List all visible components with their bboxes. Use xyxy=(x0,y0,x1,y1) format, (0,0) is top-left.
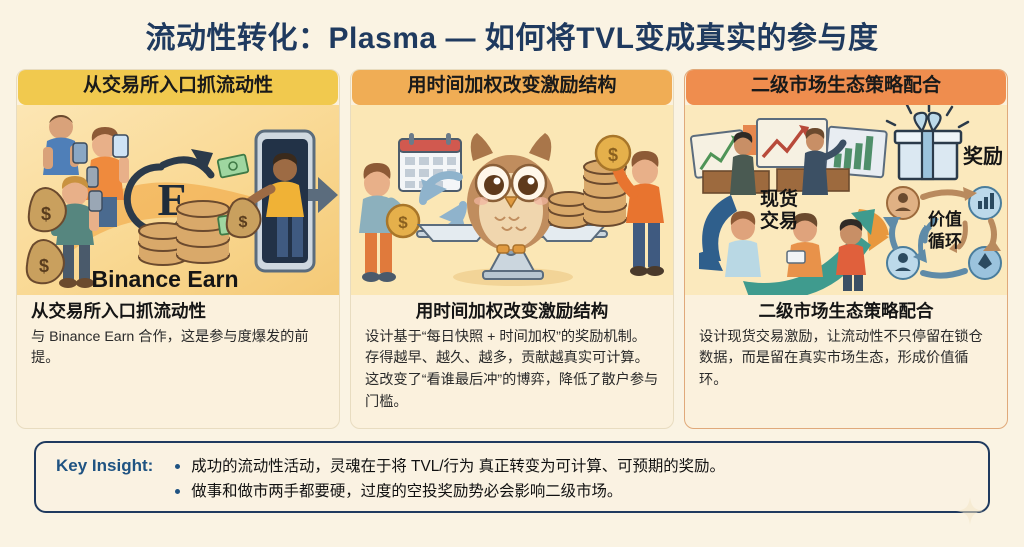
illustration-svg-1: $ $ E xyxy=(17,105,339,295)
key-insight-bullet-1-text: 成功的流动性活动，灵魂在于将 TVL/行为 真正转变为可计算、可预期的奖励。 xyxy=(191,458,725,475)
svg-text:$: $ xyxy=(608,145,618,165)
column-text-2: 用时间加权改变激励结构 设计基于“每日快照 + 时间加权”的奖励机制。存得越早、… xyxy=(351,295,673,428)
illustration-svg-2: $ xyxy=(351,105,673,295)
page-title: 流动性转化：Plasma — 如何将TVL变成真实的参与度 xyxy=(0,0,1024,69)
spot-trading-label-line1: 现货 xyxy=(760,187,798,210)
exchange-onramp-illustration: $ $ E xyxy=(17,105,339,295)
key-insight-list: 成功的流动性活动，灵魂在于将 TVL/行为 真正转变为可计算、可预期的奖励。 做… xyxy=(175,455,725,505)
key-insight-box: Key Insight: 成功的流动性活动，灵魂在于将 TVL/行为 真正转变为… xyxy=(34,441,990,513)
illustration-svg-3: 现货 交易 奖励 xyxy=(685,105,1007,295)
column-body-1: 与 Binance Earn 合作，这是参与度爆发的前提。 xyxy=(31,327,325,370)
spot-trading-label-line2: 交易 xyxy=(760,209,798,232)
column-header-3: 二级市场生态策略配合 xyxy=(686,69,1006,105)
bullet-icon xyxy=(175,464,180,469)
coin-icon-right: $ xyxy=(596,136,630,170)
column-header-2: 用时间加权改变激励结构 xyxy=(352,69,672,105)
value-cycle-label-line1: 价值 xyxy=(928,209,962,229)
column-exchange-onramp: 从交易所入口抓流动性 xyxy=(16,69,340,429)
column-body-2: 设计基于“每日快照 + 时间加权”的奖励机制。存得越早、越久、越多，贡献越真实可… xyxy=(365,327,659,413)
column-subtitle-1: 从交易所入口抓流动性 xyxy=(31,301,325,323)
secondary-market-cycle-illustration: 现货 交易 奖励 xyxy=(685,105,1007,295)
column-secondary-market: 二级市场生态策略配合 xyxy=(684,69,1008,429)
coin-icon-left: $ xyxy=(387,205,419,237)
columns-container: 从交易所入口抓流动性 xyxy=(0,69,1024,429)
binance-earn-label: Binance Earn xyxy=(92,266,239,292)
column-text-1: 从交易所入口抓流动性 与 Binance Earn 合作，这是参与度爆发的前提。 xyxy=(17,295,339,428)
key-insight-bullet-1: 成功的流动性活动，灵魂在于将 TVL/行为 真正转变为可计算、可预期的奖励。 xyxy=(175,455,725,480)
bullet-icon xyxy=(175,489,180,494)
column-subtitle-3: 二级市场生态策略配合 xyxy=(699,301,993,323)
key-insight-bullet-2: 做事和做市两手都要硬，过度的空投奖励势必会影响二级市场。 xyxy=(175,480,725,505)
trader-icon-1 xyxy=(730,132,756,195)
column-time-weighted: 用时间加权改变激励结构 xyxy=(350,69,674,429)
key-insight-label: Key Insight: xyxy=(56,455,153,476)
column-text-3: 二级市场生态策略配合 设计现货交易激励，让流动性不只停留在锁仓数据，而是留在真实… xyxy=(685,295,1007,428)
value-cycle-label-line2: 循环 xyxy=(928,231,962,251)
sparkle-icon xyxy=(956,497,984,525)
reward-label: 奖励 xyxy=(963,144,1003,168)
svg-text:$: $ xyxy=(398,213,408,232)
column-body-3: 设计现货交易激励，让流动性不只停留在锁仓数据，而是留在真实市场生态，形成价值循环… xyxy=(699,327,993,392)
time-weighted-balance-illustration: $ xyxy=(351,105,673,295)
svg-text:$: $ xyxy=(41,204,51,224)
svg-text:$: $ xyxy=(239,214,248,231)
column-header-1: 从交易所入口抓流动性 xyxy=(18,69,338,105)
key-insight-bullet-2-text: 做事和做市两手都要硬，过度的空投奖励势必会影响二级市场。 xyxy=(191,483,622,500)
svg-text:$: $ xyxy=(39,256,49,276)
column-subtitle-2: 用时间加权改变激励结构 xyxy=(365,301,659,323)
